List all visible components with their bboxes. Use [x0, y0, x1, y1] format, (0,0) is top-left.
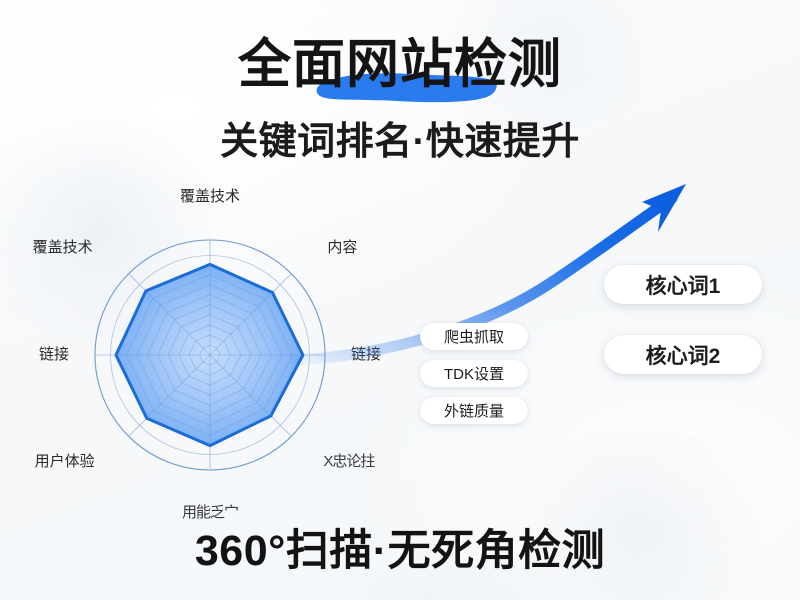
radar-label-bottom-right: X忠论拄 — [323, 453, 374, 471]
radar-label-top: 覆盖技术 — [180, 188, 240, 206]
page-subtitle: 关键词排名·快速提升 — [0, 118, 800, 166]
radar-label-bottom-left: 用户体验 — [35, 453, 95, 471]
radar-label-top-left: 覆盖技术 — [33, 239, 93, 257]
keyword-card-1[interactable]: 核心词1 — [604, 265, 762, 304]
footer-tagline: 360°扫描·无死角检测 — [0, 524, 800, 578]
title-block: 全面网站检测 — [0, 34, 800, 100]
feature-pill-tdk[interactable]: TDK设置 — [420, 360, 528, 387]
radar-label-left: 链接 — [39, 346, 69, 364]
feature-pill-crawl[interactable]: 爬虫抓取 — [420, 323, 528, 350]
feature-pill-links[interactable]: 外链质量 — [420, 397, 528, 424]
keyword-card-2[interactable]: 核心词2 — [604, 335, 762, 374]
page-title: 全面网站检测 — [0, 34, 800, 96]
poster-canvas: 全面网站检测 关键词排名·快速提升 覆盖技术 内容 链接 X忠论拄 用能乏宀 用… — [0, 0, 800, 600]
radar-label-bottom: 用能乏宀 — [182, 504, 238, 522]
